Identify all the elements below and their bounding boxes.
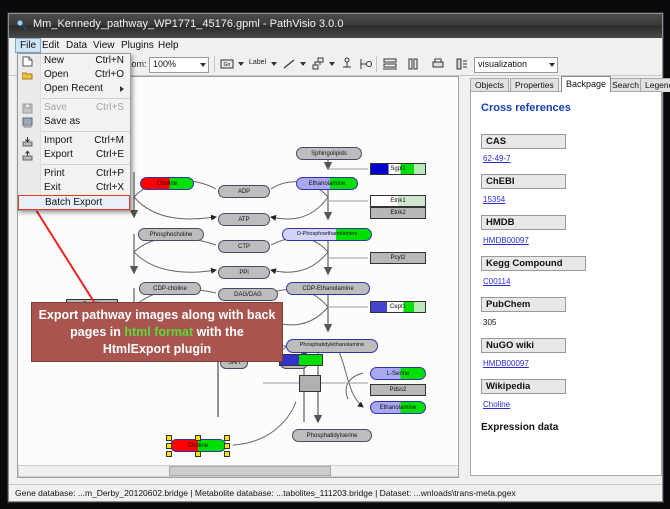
window-title: Mm_Kennedy_pathway_WP1771_45176.gpml - P…	[33, 18, 343, 30]
line-tool-icon[interactable]	[281, 56, 297, 72]
file-menu-save-as[interactable]: Save as	[18, 115, 130, 129]
file-menu-exit-accel: Ctrl+X	[96, 181, 124, 195]
status-text: Gene database: ...m_Derby_20120602.bridg…	[15, 488, 516, 498]
align-tool-icon[interactable]	[358, 56, 374, 72]
toolbar-separator	[376, 56, 377, 72]
gene-pisd2[interactable]: Pdss2	[370, 384, 426, 396]
file-menu-save-label: Save	[44, 102, 67, 113]
xref-header-chebi: ChEBI	[481, 174, 566, 189]
new-document-icon	[22, 56, 33, 67]
xref-value-nugo[interactable]: HMDB00097	[483, 359, 529, 368]
gene-small-box[interactable]	[299, 375, 321, 392]
backpage-content[interactable]: Cross references CAS 62-49-7 ChEBI 15354…	[470, 91, 662, 476]
file-menu-export[interactable]: Export Ctrl+E	[18, 148, 130, 162]
expression-data-heading: Expression data	[481, 422, 558, 433]
xref-header-nugo: NuGO wiki	[481, 338, 566, 353]
node-choline-top[interactable]: Choline	[140, 177, 194, 190]
node-phosphatidylserine[interactable]: Phosphatidylserine	[292, 429, 372, 442]
file-menu-new[interactable]: New Ctrl+N	[18, 54, 130, 68]
node-sphingolipids[interactable]: Sphingolipids	[296, 147, 362, 160]
xref-link-kegg[interactable]: C00114	[483, 277, 510, 286]
xref-value-wikipedia[interactable]: Choline	[483, 400, 510, 409]
callout-line-1: Export pathway images along with back	[39, 307, 276, 324]
node-adp[interactable]: ADP	[218, 185, 270, 198]
file-menu-print[interactable]: Print Ctrl+P	[18, 167, 130, 181]
gene-pld[interactable]	[279, 354, 323, 366]
line-dropdown-icon[interactable]	[300, 62, 306, 66]
annotation-callout: Export pathway images along with back pa…	[31, 302, 283, 362]
file-menu-export-accel: Ctrl+E	[96, 148, 124, 162]
file-menu-save-accel: Ctrl+S	[96, 101, 124, 115]
callout-line-2b: with the	[193, 325, 244, 339]
toolbar-separator	[214, 56, 215, 72]
xref-link-hmdb[interactable]: HMDB00097	[483, 236, 529, 245]
menu-bar: File Edit Data View Plugins Help	[9, 38, 662, 54]
label-tool-text[interactable]: Label	[249, 59, 266, 66]
menu-view[interactable]: View	[89, 39, 119, 52]
node-ctp[interactable]: CTP	[218, 240, 270, 253]
stack-vertical-icon[interactable]	[406, 56, 422, 72]
import-icon	[22, 136, 33, 147]
file-menu-separator	[42, 98, 130, 99]
gene-cept1[interactable]: Cept1	[370, 301, 426, 313]
file-menu-print-label: Print	[44, 168, 65, 179]
file-menu-new-accel: Ctrl+N	[95, 54, 124, 68]
menu-edit[interactable]: Edit	[38, 39, 63, 52]
selection-handle[interactable]	[224, 451, 230, 457]
file-menu-export-label: Export	[44, 149, 73, 160]
tab-search[interactable]: Search	[607, 78, 644, 92]
file-menu-open-accel: Ctrl+O	[95, 68, 124, 82]
zoom-value: 100%	[153, 59, 176, 69]
zoom-combobox[interactable]: 100%	[149, 57, 209, 73]
node-o-phosphoethanolamine[interactable]: O-Phosphoethanolamine	[282, 228, 372, 241]
selection-handle[interactable]	[166, 435, 172, 441]
visualization-value: visualization	[478, 59, 527, 69]
file-menu-open-label: Open	[44, 69, 68, 80]
callout-line-3: HtmlExport plugin	[103, 341, 211, 358]
file-menu-popup[interactable]: New Ctrl+N Open Ctrl+O Open Recent Save …	[17, 53, 131, 211]
node-dag[interactable]: DAG/DAG	[218, 288, 278, 301]
file-menu-open[interactable]: Open Ctrl+O	[18, 68, 130, 82]
datanode-tool-icon[interactable]: Gn	[219, 56, 235, 72]
callout-line-2a: pages in	[70, 325, 124, 339]
node-cdp-choline[interactable]: CDP-choline	[139, 282, 201, 295]
file-menu-import[interactable]: Import Ctrl+M	[18, 134, 130, 148]
file-menu-exit-label: Exit	[44, 182, 61, 193]
file-menu-print-accel: Ctrl+P	[96, 167, 124, 181]
file-menu-exit[interactable]: Exit Ctrl+X	[18, 181, 130, 195]
status-bar: Gene database: ...m_Derby_20120602.bridg…	[9, 484, 662, 501]
svg-text:Gn: Gn	[224, 62, 231, 68]
save-disk-icon	[22, 103, 33, 114]
node-ethanolamine-top[interactable]: Ethanolamine	[296, 177, 358, 190]
pathvisio-app-icon	[16, 19, 29, 32]
selection-handle[interactable]	[166, 451, 172, 457]
file-menu-separator	[42, 164, 130, 165]
print-icon[interactable]	[430, 56, 446, 72]
gene-etnk2[interactable]: Etnk2	[370, 207, 426, 219]
file-menu-import-accel: Ctrl+M	[94, 134, 124, 148]
tab-backpage[interactable]: Backpage	[561, 76, 611, 92]
xref-header-cas: CAS	[481, 134, 566, 149]
file-menu-open-recent-label: Open Recent	[44, 83, 103, 94]
menu-help[interactable]: Help	[154, 39, 183, 52]
xref-header-kegg: Kegg Compound	[481, 256, 586, 271]
file-menu-batch-export[interactable]: Batch Export	[18, 195, 130, 210]
xref-value-chebi[interactable]: 15354	[483, 195, 505, 204]
xref-header-hmdb: HMDB	[481, 215, 566, 230]
datanode-dropdown-icon[interactable]	[238, 62, 244, 66]
cross-references-heading: Cross references	[481, 102, 571, 114]
callout-line-2: pages in html format with the	[70, 324, 244, 341]
tab-objects[interactable]: Objects	[470, 78, 509, 92]
selection-handle[interactable]	[195, 435, 201, 441]
file-menu-open-recent[interactable]: Open Recent	[18, 82, 130, 96]
tab-properties[interactable]: Properties	[510, 78, 559, 92]
anchor-tool-icon[interactable]	[339, 56, 355, 72]
xref-value-kegg[interactable]: C00114	[483, 277, 510, 286]
side-panel-tabs: Objects Properties Backpage Search Legen…	[470, 76, 662, 91]
canvas-hscrollbar[interactable]	[18, 465, 459, 477]
menu-plugins[interactable]: Plugins	[117, 39, 158, 52]
xref-value-cas[interactable]: 62-49-7	[483, 154, 511, 163]
chevron-down-icon	[549, 63, 555, 67]
xref-link-nugo[interactable]: HMDB00097	[483, 359, 529, 368]
save-as-icon	[22, 117, 33, 128]
title-bar: Mm_Kennedy_pathway_WP1771_45176.gpml - P…	[9, 14, 662, 39]
file-menu-save-as-label: Save as	[44, 116, 80, 127]
node-ppi[interactable]: PPi	[218, 266, 270, 279]
canvas-hscroll-thumb[interactable]	[169, 466, 331, 476]
node-cdp-ethanolamine[interactable]: CDP-Ethanolamine	[286, 282, 370, 295]
file-menu-separator	[42, 131, 130, 132]
file-menu-new-label: New	[44, 55, 64, 66]
gene-etnk1[interactable]: Etnk1	[370, 195, 426, 207]
selection-handle[interactable]	[224, 435, 230, 441]
xref-link-cas[interactable]: 62-49-7	[483, 154, 511, 163]
file-menu-batch-export-label: Batch Export	[45, 197, 102, 208]
xref-header-wikipedia: Wikipedia	[481, 379, 566, 394]
label-dropdown-icon[interactable]	[271, 62, 277, 66]
legend-icon[interactable]	[454, 56, 470, 72]
node-ethanolamine-right[interactable]: Ethanolamine	[370, 401, 426, 414]
submenu-arrow-icon	[120, 86, 124, 92]
interaction-tool-icon[interactable]	[310, 56, 326, 72]
chevron-down-icon	[200, 63, 206, 67]
xref-value-hmdb[interactable]: HMDB00097	[483, 236, 529, 245]
stack-horizontal-icon[interactable]	[382, 56, 398, 72]
xref-value-pubchem: 305	[483, 318, 496, 327]
node-l-serine[interactable]: L-Serine	[370, 367, 426, 380]
xref-link-wikipedia[interactable]: Choline	[483, 400, 510, 409]
selection-handle[interactable]	[224, 443, 230, 449]
node-phosphatidylethanolamine[interactable]: Phosphatidylethanolamine	[286, 339, 378, 353]
menu-data[interactable]: Data	[62, 39, 91, 52]
gene-pcyt2[interactable]: Pcyt2	[370, 252, 426, 264]
selection-handle[interactable]	[166, 443, 172, 449]
gene-sgpl1[interactable]: Sgpl1	[370, 163, 426, 175]
visualization-combobox[interactable]: visualization	[474, 57, 558, 73]
xref-header-pubchem: PubChem	[481, 297, 566, 312]
file-menu-import-label: Import	[44, 135, 72, 146]
interaction-dropdown-icon[interactable]	[329, 62, 335, 66]
xref-link-chebi[interactable]: 15354	[483, 195, 505, 204]
application-window: Mm_Kennedy_pathway_WP1771_45176.gpml - P…	[8, 13, 663, 502]
callout-highlight: html format	[124, 325, 193, 339]
node-atp[interactable]: ATP	[218, 213, 270, 226]
node-phosphocholine[interactable]: Phosphocholine	[138, 228, 204, 241]
tab-legend[interactable]: Legend	[640, 78, 670, 92]
side-panel: Objects Properties Backpage Search Legen…	[464, 76, 662, 476]
screenshot-frame: Mm_Kennedy_pathway_WP1771_45176.gpml - P…	[0, 0, 670, 509]
export-icon	[22, 150, 33, 161]
selection-handle[interactable]	[195, 451, 201, 457]
file-menu-save: Save Ctrl+S	[18, 101, 130, 115]
open-folder-icon	[22, 70, 33, 81]
